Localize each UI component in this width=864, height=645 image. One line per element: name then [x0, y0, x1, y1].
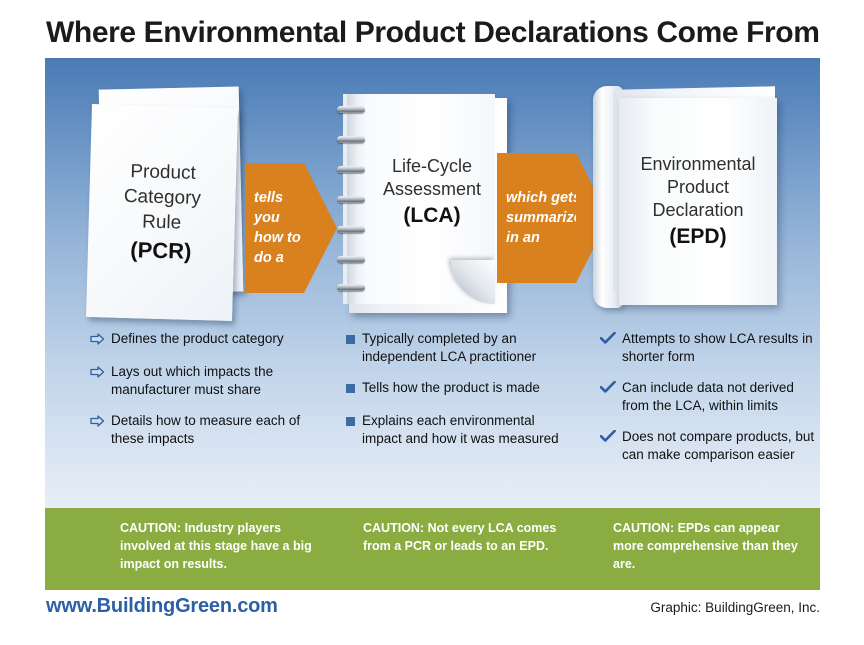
list-item-text: Attempts to show LCA results in shorter …	[622, 330, 815, 366]
spiral-ring-icon	[337, 256, 365, 263]
spiral-ring-icon	[337, 136, 365, 143]
pcr-line-2: Category	[124, 184, 202, 211]
bullet-list-pcr: Defines the product category Lays out wh…	[90, 330, 305, 461]
spiral-ring-icon	[337, 166, 365, 173]
epd-line-2: Product	[667, 176, 729, 199]
caution-band: CAUTION: Industry players involved at th…	[45, 508, 820, 590]
list-item: Attempts to show LCA results in shorter …	[600, 330, 815, 366]
epd-line-1: Environmental	[640, 153, 755, 176]
bullet-columns: Defines the product category Lays out wh…	[45, 330, 820, 508]
page-title: Where Environmental Product Declarations…	[46, 16, 846, 50]
caution-text-pcr: CAUTION: Industry players involved at th…	[120, 520, 320, 573]
list-item-text: Tells how the product is made	[362, 379, 570, 399]
list-item: Details how to measure each of these imp…	[90, 412, 305, 448]
connector-arrow-lca-to-epd: which gets summarized in an	[497, 153, 576, 283]
connector-arrow-pcr-to-lca: tells you how to do a	[245, 163, 304, 293]
arrow-right-bullet-icon	[90, 330, 105, 350]
bullet-list-lca: Typically completed by an independent LC…	[345, 330, 570, 461]
caution-text-epd: CAUTION: EPDs can appear more comprehens…	[613, 520, 813, 573]
epd-document-label: Environmental Product Declaration (EPD)	[619, 98, 777, 305]
list-item-text: Typically completed by an independent LC…	[362, 330, 570, 366]
list-item-text: Lays out which impacts the manufacturer …	[111, 363, 305, 399]
spiral-ring-icon	[337, 106, 365, 113]
diagram-panel: Product Category Rule (PCR) tells you ho…	[45, 58, 820, 508]
lca-line-1: Life-Cycle	[392, 155, 472, 178]
pcr-line-1: Product	[130, 159, 196, 186]
arrow-right-bullet-icon	[90, 363, 105, 399]
epd-abbreviation: (EPD)	[669, 224, 726, 251]
pcr-abbreviation: (PCR)	[130, 235, 192, 266]
spiral-ring-icon	[337, 284, 365, 291]
spiral-ring-icon	[337, 226, 365, 233]
pcr-line-3: Rule	[142, 209, 182, 235]
list-item: Lays out which impacts the manufacturer …	[90, 363, 305, 399]
list-item: Defines the product category	[90, 330, 305, 350]
caution-text-lca: CAUTION: Not every LCA comes from a PCR …	[363, 520, 563, 556]
epd-line-3: Declaration	[652, 199, 743, 222]
lca-line-2: Assessment	[383, 178, 481, 201]
graphic-credit: Graphic: BuildingGreen, Inc.	[650, 600, 820, 615]
stage-lca-document: Life-Cycle Assessment (LCA)	[339, 94, 507, 309]
pcr-document-label: Product Category Rule (PCR)	[86, 104, 238, 321]
notebook-front-page-icon: Life-Cycle Assessment (LCA)	[343, 94, 495, 304]
checkmark-bullet-icon	[600, 330, 616, 366]
square-bullet-icon	[345, 379, 356, 399]
list-item: Can include data not derived from the LC…	[600, 379, 815, 415]
spiral-ring-icon	[337, 196, 365, 203]
checkmark-bullet-icon	[600, 379, 616, 415]
list-item: Does not compare products, but can make …	[600, 428, 815, 464]
lca-document-label: Life-Cycle Assessment (LCA)	[367, 94, 497, 290]
square-bullet-icon	[345, 330, 356, 366]
square-bullet-icon	[345, 412, 356, 448]
list-item: Explains each environmental impact and h…	[345, 412, 570, 448]
website-url-link[interactable]: www.BuildingGreen.com	[46, 595, 278, 618]
lca-abbreviation: (LCA)	[403, 202, 460, 229]
connector-arrow-1-label: tells you how to do a	[254, 188, 304, 268]
list-item: Tells how the product is made	[345, 379, 570, 399]
stage-epd-document: Environmental Product Declaration (EPD)	[593, 86, 783, 311]
list-item-text: Explains each environmental impact and h…	[362, 412, 570, 448]
connector-arrow-2-label: which gets summarized in an	[506, 188, 591, 248]
list-item-text: Defines the product category	[111, 330, 305, 350]
list-item: Typically completed by an independent LC…	[345, 330, 570, 366]
bullet-list-epd: Attempts to show LCA results in shorter …	[600, 330, 815, 477]
arrow-right-bullet-icon	[90, 412, 105, 448]
list-item-text: Can include data not derived from the LC…	[622, 379, 815, 415]
checkmark-bullet-icon	[600, 428, 616, 464]
list-item-text: Does not compare products, but can make …	[622, 428, 815, 464]
list-item-text: Details how to measure each of these imp…	[111, 412, 305, 448]
